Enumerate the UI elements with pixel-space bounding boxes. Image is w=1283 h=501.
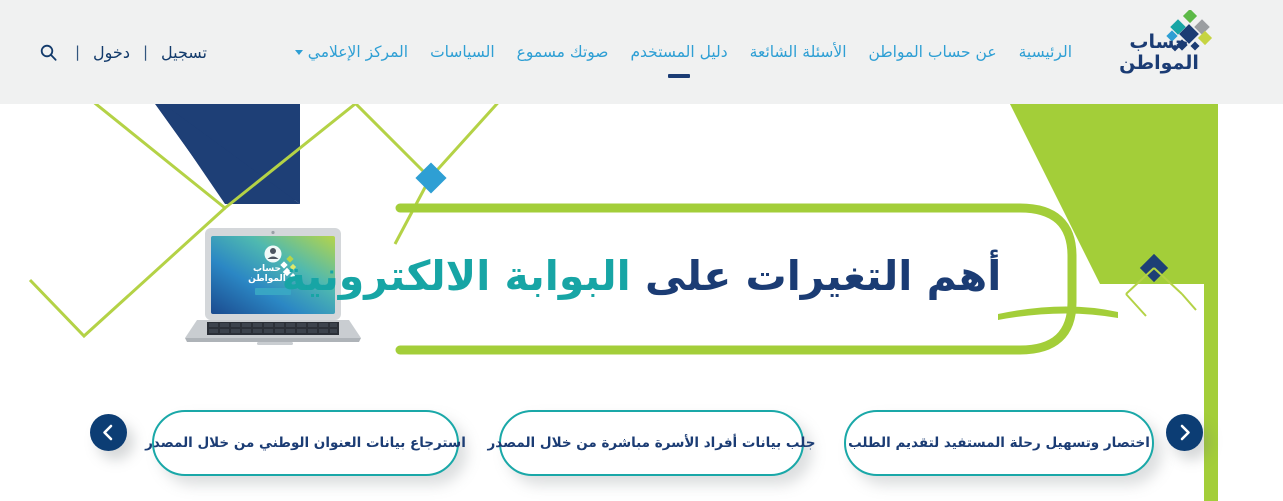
hero-headline-part2: البوابة الالكترونية — [282, 252, 631, 300]
nav-item-about[interactable]: عن حساب المواطن — [858, 0, 1008, 104]
nav-item-policies[interactable]: السياسات — [419, 0, 506, 104]
nav-item-media-center-label: المركز الإعلامي — [308, 43, 408, 61]
chevron-down-icon — [295, 50, 303, 55]
nav-item-home[interactable]: الرئيسية — [1008, 0, 1083, 104]
site-logo[interactable]: حساب المواطن — [1101, 8, 1221, 86]
register-link[interactable]: تسجيل — [148, 43, 220, 62]
search-icon — [40, 44, 57, 61]
auth-area: تسجيل | دخول | — [30, 0, 220, 104]
nav-item-home-label: الرئيسية — [1019, 43, 1072, 61]
logo-wordmark-line1: حساب — [1103, 32, 1215, 53]
nav-item-media-center[interactable]: المركز الإعلامي — [284, 0, 419, 104]
carousel-card-label: جلب بيانات أفراد الأسرة مباشرة من خلال ا… — [470, 435, 834, 451]
nav-item-your-voice[interactable]: صوتك مسموع — [506, 0, 620, 104]
carousel-prev-button[interactable] — [90, 414, 127, 451]
nav-item-faq[interactable]: الأسئلة الشائعة — [739, 0, 858, 104]
carousel-card[interactable]: جلب بيانات أفراد الأسرة مباشرة من خلال ا… — [499, 410, 804, 476]
nav-item-user-guide-label: دليل المستخدم — [630, 43, 727, 61]
logo-wordmark: حساب المواطن — [1103, 32, 1215, 73]
site-header: حساب المواطن الرئيسية عن حساب المواطن ال… — [0, 0, 1283, 104]
hero-headline: أهم التغيرات على البوابة الالكترونية — [0, 252, 1283, 300]
hero-headline-part1: أهم التغيرات على — [645, 252, 1001, 300]
hero-banner: حساب المواطن — [0, 104, 1283, 392]
search-button[interactable] — [30, 44, 67, 61]
login-link[interactable]: دخول — [80, 43, 143, 62]
auth-separator-1: | — [143, 43, 148, 61]
chevron-left-icon — [101, 424, 116, 441]
carousel-card[interactable]: استرجاع بيانات العنوان الوطني من خلال ال… — [152, 410, 459, 476]
primary-navigation: الرئيسية عن حساب المواطن الأسئلة الشائعة… — [284, 0, 1083, 104]
carousel-card[interactable]: اختصار وتسهيل رحلة المستفيد لتقديم الطلب — [844, 410, 1154, 476]
carousel-card-label: اختصار وتسهيل رحلة المستفيد لتقديم الطلب — [830, 435, 1168, 451]
feature-carousel: اختصار وتسهيل رحلة المستفيد لتقديم الطلب… — [0, 392, 1283, 501]
nav-item-policies-label: السياسات — [430, 43, 495, 61]
carousel-next-button[interactable] — [1166, 414, 1203, 451]
nav-item-your-voice-label: صوتك مسموع — [517, 43, 609, 61]
chevron-right-icon — [1177, 424, 1192, 441]
carousel-card-label: استرجاع بيانات العنوان الوطني من خلال ال… — [127, 435, 484, 451]
auth-separator-2: | — [75, 43, 80, 61]
page-root: حساب المواطن الرئيسية عن حساب المواطن ال… — [0, 0, 1283, 501]
nav-item-user-guide[interactable]: دليل المستخدم — [619, 0, 738, 104]
nav-item-about-label: عن حساب المواطن — [869, 43, 997, 61]
nav-item-faq-label: الأسئلة الشائعة — [750, 43, 847, 61]
logo-wordmark-line2: المواطن — [1103, 53, 1215, 74]
